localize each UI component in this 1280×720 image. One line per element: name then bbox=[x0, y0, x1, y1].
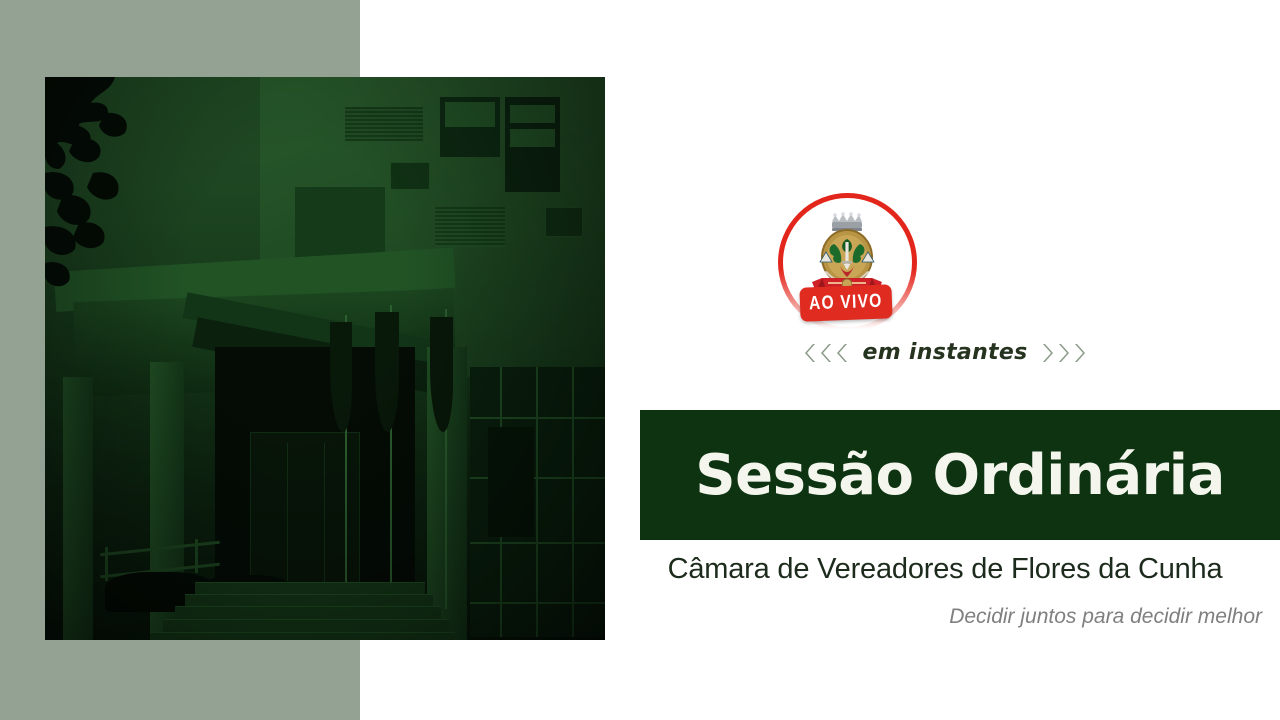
entrance-step bbox=[175, 606, 441, 619]
shutter-window-2 bbox=[435, 207, 505, 247]
flag bbox=[375, 312, 399, 432]
chevron-left-group-icon bbox=[803, 342, 849, 364]
window-dark-pane bbox=[488, 427, 534, 537]
organization-name: Câmara de Vereadores de Flores da Cunha bbox=[610, 553, 1280, 586]
chevron-right-icon bbox=[1057, 342, 1071, 364]
rail-post bbox=[105, 547, 108, 581]
ac-unit bbox=[390, 162, 430, 190]
chevron-left-icon bbox=[835, 342, 849, 364]
grid-line-h bbox=[470, 417, 605, 419]
organization-slogan: Decidir juntos para decidir melhor bbox=[610, 605, 1280, 629]
grid-line-v bbox=[572, 367, 574, 637]
ac-unit-2 bbox=[545, 207, 583, 237]
status-text: em instantes bbox=[863, 340, 1028, 365]
broadcast-panel: AO VIVO em instantes Sessão Ordinária Câ… bbox=[610, 0, 1280, 720]
chevron-right-icon bbox=[1041, 342, 1055, 364]
column-left bbox=[63, 377, 93, 640]
chevron-left-icon bbox=[819, 342, 833, 364]
entrance-step bbox=[195, 582, 425, 594]
grid-line-h bbox=[470, 602, 605, 604]
chevron-right-group-icon bbox=[1041, 342, 1087, 364]
venue-photo: CASA LEGISLATIVA RAYMUNDO PAVIANI bbox=[45, 77, 605, 640]
upper-window-pane-2 bbox=[510, 105, 555, 123]
flag bbox=[430, 317, 453, 432]
tree-foliage-icon bbox=[45, 77, 205, 337]
photo-inner: CASA LEGISLATIVA RAYMUNDO PAVIANI bbox=[45, 77, 605, 640]
chevron-right-icon bbox=[1073, 342, 1087, 364]
entrance-step bbox=[163, 619, 449, 632]
entrance-step bbox=[185, 594, 433, 606]
wall-panel bbox=[295, 187, 385, 257]
grid-line-h bbox=[470, 542, 605, 544]
entrance-step bbox=[150, 632, 455, 640]
status-row: em instantes bbox=[610, 340, 1280, 365]
shutter-window bbox=[345, 107, 423, 141]
grid-line-v bbox=[536, 367, 538, 637]
chevron-left-icon bbox=[803, 342, 817, 364]
live-badge: AO VIVO bbox=[799, 284, 892, 322]
window-grid bbox=[470, 367, 605, 637]
upper-window-pane-3 bbox=[510, 129, 555, 147]
live-badge-group: AO VIVO bbox=[775, 190, 920, 335]
session-title-band: Sessão Ordinária bbox=[640, 410, 1280, 540]
session-title: Sessão Ordinária bbox=[695, 443, 1225, 508]
rail-post bbox=[195, 539, 198, 573]
live-badge-label: AO VIVO bbox=[809, 291, 883, 316]
upper-window-pane bbox=[445, 102, 495, 127]
